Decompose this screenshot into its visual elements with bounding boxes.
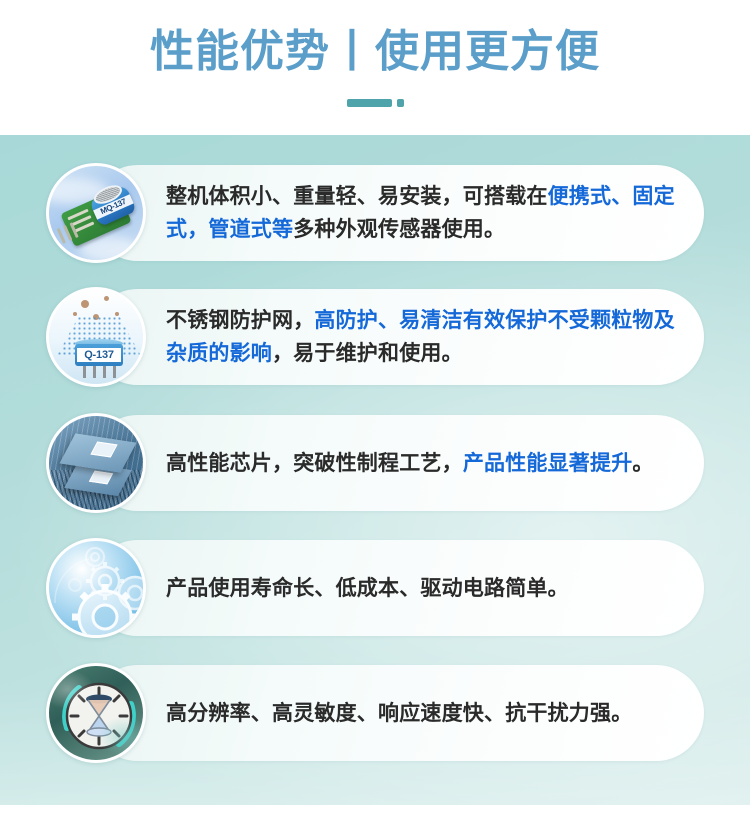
- page-title: 性能优势丨使用更方便: [0, 24, 750, 80]
- sensor-part-label: Q-137: [77, 348, 121, 362]
- feature-card[interactable]: MQ-137 整机体积小、重量轻、易安装，可搭载在便携式、固定式，管道式等多种外…: [46, 163, 704, 263]
- card-text: 产品使用寿命长、低成本、驱动电路简单。: [166, 538, 686, 638]
- promo-page: 性能优势丨使用更方便 MQ-137: [0, 0, 750, 835]
- card-text: 整机体积小、重量轻、易安装，可搭载在便携式、固定式，管道式等多种外观传感器使用。: [166, 163, 686, 263]
- feature-card[interactable]: 高分辨率、高灵敏度、响应速度快、抗干扰力强。: [46, 663, 704, 763]
- divider-dash-icon: [347, 99, 392, 107]
- card-text-highlight: 产品性能显著提升: [463, 452, 633, 475]
- card-text-segment: 高分辨率、高灵敏度、响应速度快、抗干扰力强。: [166, 697, 632, 730]
- gears-svg: [49, 541, 146, 638]
- stainless-steel-mesh-sensor-icon: Q-137: [46, 287, 146, 387]
- card-text-segment: 。: [632, 452, 653, 475]
- gears-icon: [46, 538, 146, 638]
- feature-card[interactable]: 高性能芯片，突破性制程工艺，产品性能显著提升。: [46, 413, 704, 513]
- card-text: 不锈钢防护网，高防护、易清洁有效保护不受颗粒物及杂质的影响，易于维护和使用。: [166, 287, 686, 387]
- feature-card-list: MQ-137 整机体积小、重量轻、易安装，可搭载在便携式、固定式，管道式等多种外…: [0, 135, 750, 805]
- card-text: 高分辨率、高灵敏度、响应速度快、抗干扰力强。: [166, 663, 686, 763]
- divider-dot-icon: [397, 99, 404, 107]
- semiconductor-chip-icon: [46, 413, 146, 513]
- hourglass-clock-icon: [46, 663, 146, 763]
- card-text-segment: 不锈钢防护网，: [166, 309, 314, 332]
- card-text-segment: 产品使用寿命长、低成本、驱动电路简单。: [166, 572, 569, 605]
- card-text-segment: 高性能芯片，突破性制程工艺，: [166, 452, 463, 475]
- page-header: 性能优势丨使用更方便: [0, 0, 750, 135]
- card-text-segment: 整机体积小、重量轻、易安装，可搭载在: [166, 185, 548, 208]
- card-text-segment: 多种外观传感器使用。: [293, 218, 505, 241]
- card-text: 高性能芯片，突破性制程工艺，产品性能显著提升。: [166, 413, 686, 513]
- feature-card[interactable]: Q-137 不锈钢防护网，高防护、易清洁有效保护不受颗粒物及杂质的影响，易于维护…: [46, 287, 704, 387]
- mq137-gas-sensor-module-icon: MQ-137: [46, 163, 146, 263]
- feature-card[interactable]: 产品使用寿命长、低成本、驱动电路简单。: [46, 538, 704, 638]
- card-text-segment: ，易于维护和使用。: [272, 342, 463, 365]
- title-divider: [0, 98, 750, 107]
